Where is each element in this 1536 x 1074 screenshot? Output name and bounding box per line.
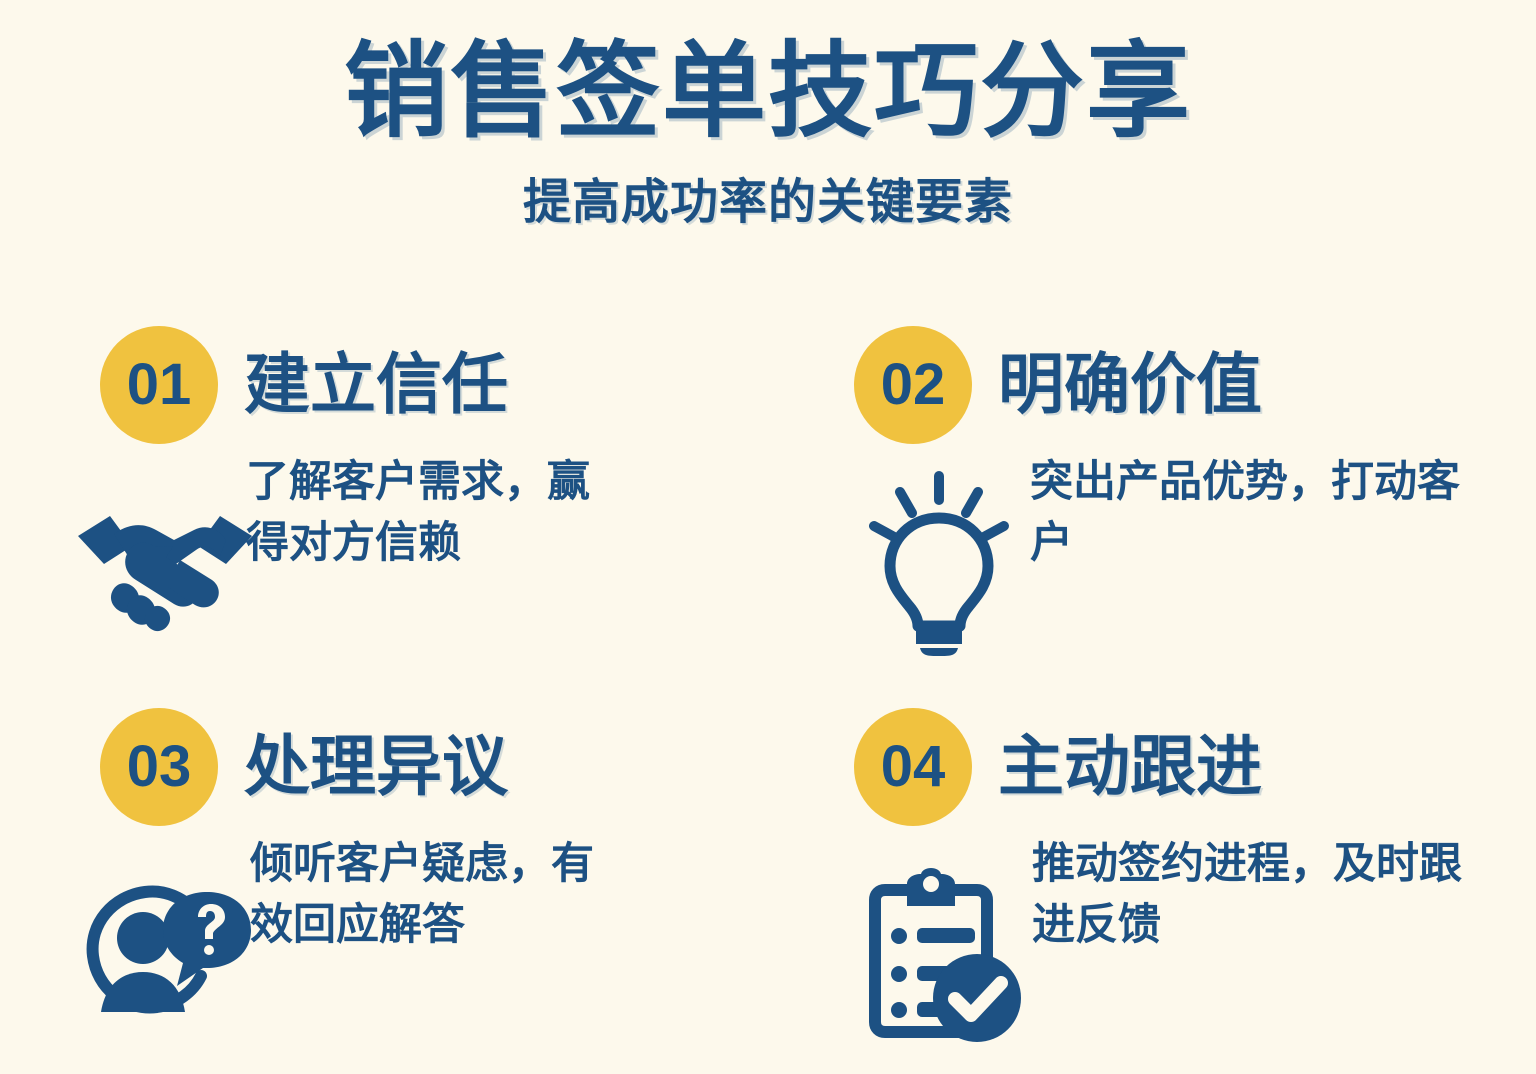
lightbulb-icon bbox=[844, 460, 1034, 660]
tip-card-02-body: 突出产品优势，打动客户 bbox=[854, 446, 1496, 660]
tips-grid: 01 建立信任 了解客户需 bbox=[0, 310, 1536, 1024]
clipboard-check-icon bbox=[848, 854, 1038, 1054]
tip-card-02: 02 明确价值 突出产品优势，打动客户 bbox=[768, 310, 1536, 692]
page-subtitle: 提高成功率的关键要素 bbox=[0, 162, 1536, 232]
tip-card-04-header: 04 主动跟进 bbox=[854, 708, 1496, 826]
tip-description-03: 倾听客户疑虑，有效回应解答 bbox=[250, 828, 630, 956]
tip-number-badge-03: 03 bbox=[100, 708, 218, 826]
person-question-icon bbox=[74, 874, 264, 1074]
tip-card-01-header: 01 建立信任 bbox=[100, 326, 728, 444]
tip-number-02: 02 bbox=[881, 356, 946, 414]
tip-card-01-body: 了解客户需求，赢得对方信赖 bbox=[100, 446, 728, 692]
tip-card-02-header: 02 明确价值 bbox=[854, 326, 1496, 444]
tip-number-03: 03 bbox=[127, 738, 192, 796]
tip-number-badge-04: 04 bbox=[854, 708, 972, 826]
tip-number-badge-02: 02 bbox=[854, 326, 972, 444]
header: 销售签单技巧分享 提高成功率的关键要素 bbox=[0, 0, 1536, 232]
tip-number-badge-01: 01 bbox=[100, 326, 218, 444]
tip-card-03-body: 倾听客户疑虑，有效回应解答 bbox=[100, 828, 728, 1074]
tip-title-03: 处理异议 bbox=[244, 732, 508, 801]
tip-number-04: 04 bbox=[881, 738, 946, 796]
tip-card-01: 01 建立信任 了解客户需 bbox=[0, 310, 768, 692]
tip-card-03-header: 03 处理异议 bbox=[100, 708, 728, 826]
tip-title-04: 主动跟进 bbox=[998, 732, 1262, 801]
tip-title-02: 明确价值 bbox=[998, 350, 1262, 419]
tip-description-04: 推动签约进程，及时跟进反馈 bbox=[1032, 828, 1496, 956]
tip-card-04-body: 推动签约进程，及时跟进反馈 bbox=[854, 828, 1496, 1054]
tip-description-01: 了解客户需求，赢得对方信赖 bbox=[246, 446, 606, 574]
tip-card-03: 03 处理异议 倾听客户疑虑，有效回应解答 bbox=[0, 692, 768, 1074]
handshake-icon bbox=[70, 492, 260, 692]
tip-description-02: 突出产品优势，打动客户 bbox=[1030, 446, 1496, 574]
tip-number-01: 01 bbox=[127, 356, 192, 414]
tip-card-04: 04 主动跟进 推动签约进程，及时跟 bbox=[768, 692, 1536, 1074]
page-title: 销售签单技巧分享 bbox=[0, 36, 1536, 148]
tip-title-01: 建立信任 bbox=[244, 350, 508, 419]
